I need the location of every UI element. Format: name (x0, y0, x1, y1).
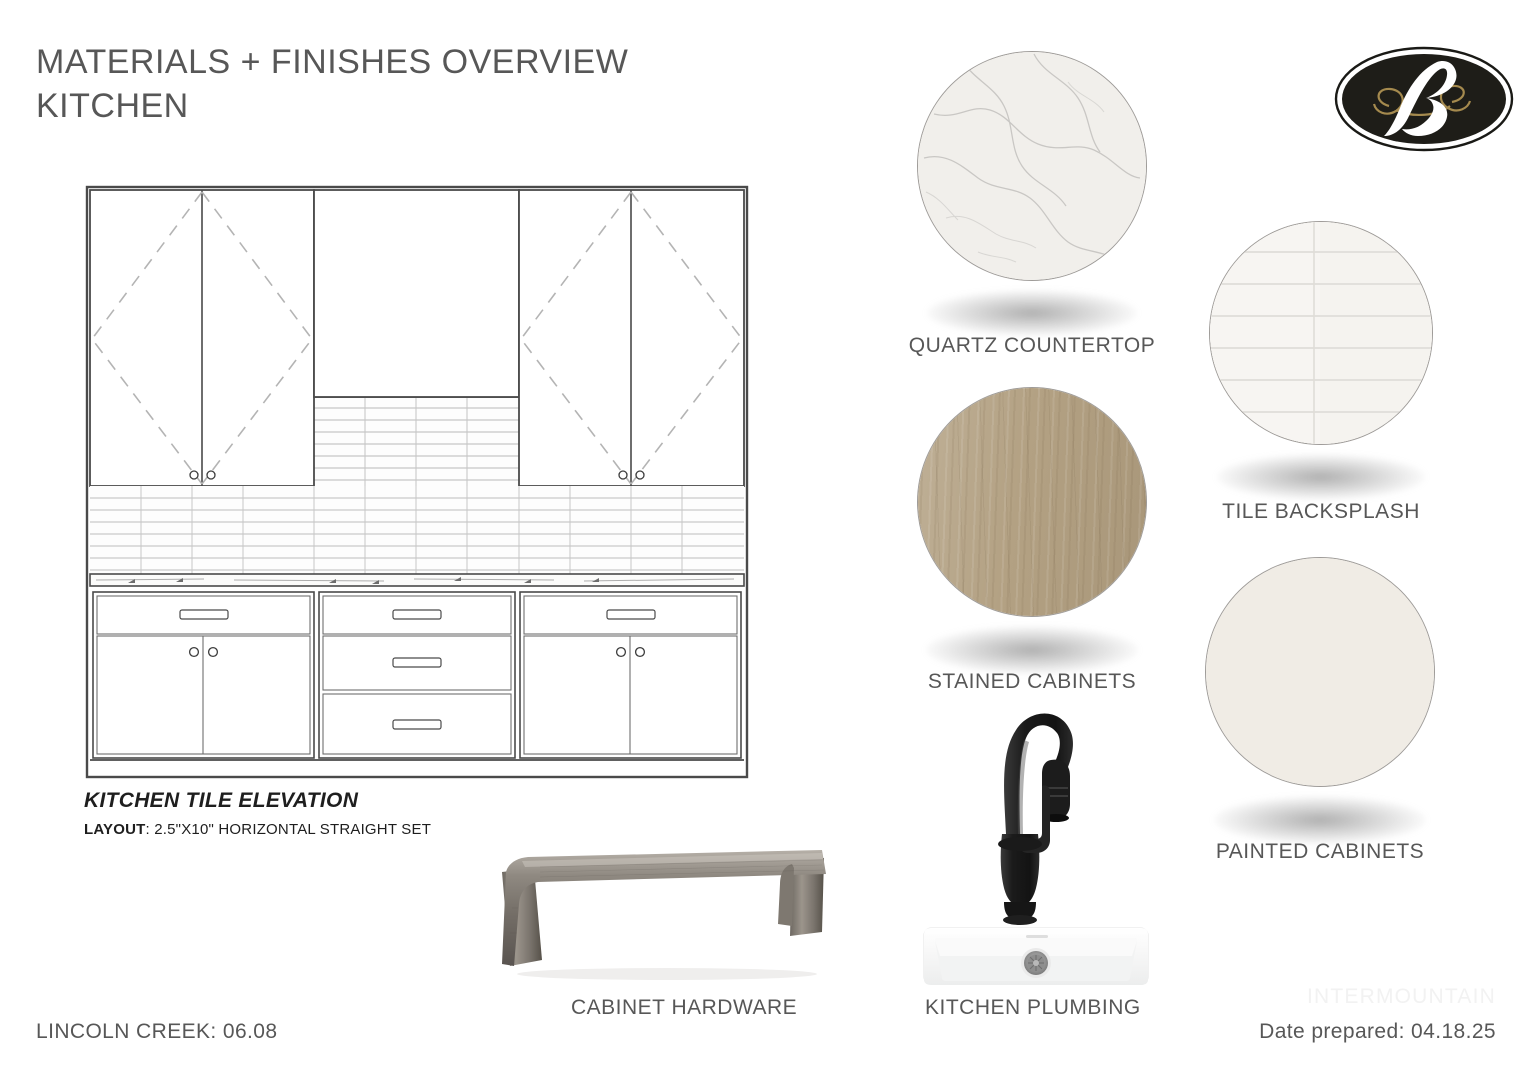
material-swatch-painted-cabinets[interactable]: PAINTED CABINETS (1206, 558, 1434, 858)
project-footer: LINCOLN CREEK: 06.08 (36, 1020, 277, 1044)
material-swatch-tile-backsplash[interactable]: TILE BACKSPLASH (1210, 222, 1432, 522)
swatch-shadow (1217, 454, 1425, 500)
tile-backsplash-disc (1210, 222, 1432, 444)
elevation-layout-value: : 2.5"X10" HORIZONTAL STRAIGHT SET (146, 821, 432, 838)
quartz-countertop-disc (918, 52, 1146, 280)
date-prepared-footer: Date prepared: 04.18.25 (1259, 1020, 1496, 1044)
tile-backsplash-label: TILE BACKSPLASH (1222, 500, 1420, 524)
painted-cabinets-label: PAINTED CABINETS (1216, 840, 1424, 864)
elevation-caption-title: KITCHEN TILE ELEVATION (84, 788, 604, 814)
painted-cabinets-disc (1206, 558, 1434, 786)
swatch-shadow (1214, 796, 1426, 844)
brand-logo (1334, 44, 1514, 154)
swatch-shadow (926, 626, 1138, 674)
elevation-layout-note: LAYOUT: 2.5"X10" HORIZONTAL STRAIGHT SET (84, 821, 604, 838)
stained-cabinets-disc (918, 388, 1146, 616)
cabinet-hardware-label: CABINET HARDWARE (571, 996, 797, 1020)
page-title-line-1: MATERIALS + FINISHES OVERVIEW (36, 40, 796, 84)
cabinet-hardware-pull[interactable] (492, 848, 854, 988)
material-swatch-quartz-countertop[interactable]: QUARTZ COUNTERTOP (918, 52, 1146, 352)
kitchen-plumbing-label: KITCHEN PLUMBING (925, 996, 1141, 1020)
swatch-shadow (927, 290, 1137, 336)
quartz-countertop-label: QUARTZ COUNTERTOP (909, 334, 1156, 358)
kitchen-tile-elevation-drawing (84, 184, 750, 780)
intermountain-watermark: INTERMOUNTAIN (1307, 985, 1496, 1009)
page-title-line-2: KITCHEN (36, 84, 796, 128)
material-swatch-stained-cabinets[interactable]: STAINED CABINETS (918, 388, 1146, 688)
page-title: MATERIALS + FINISHES OVERVIEW KITCHEN (36, 40, 796, 128)
kitchen-plumbing-fixtures[interactable] (920, 688, 1152, 986)
elevation-caption: KITCHEN TILE ELEVATION LAYOUT: 2.5"X10" … (84, 788, 604, 838)
elevation-layout-label: LAYOUT (84, 821, 146, 838)
